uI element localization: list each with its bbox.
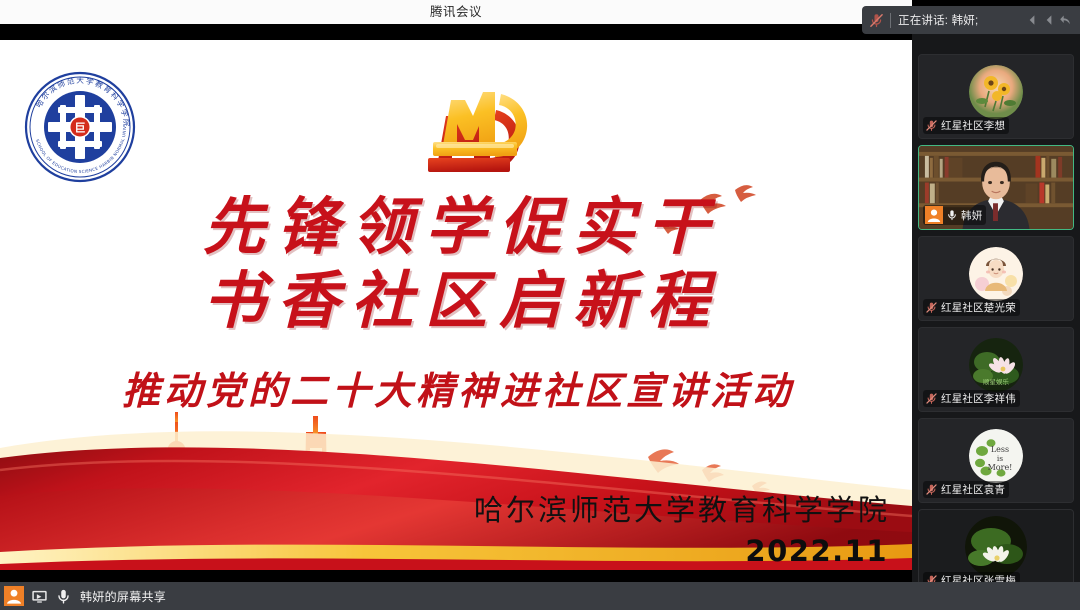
stage-top-letterbox xyxy=(0,28,912,40)
svg-text:is: is xyxy=(997,454,1003,463)
microphone-icon xyxy=(946,208,958,222)
participant-name: 红星社区楚光荣 xyxy=(941,300,1016,315)
participant-tile[interactable]: Less is More! 红星社区袁青 xyxy=(918,418,1074,503)
title-line-1: 先锋领学促实干 xyxy=(0,190,912,264)
microphone-muted-icon xyxy=(925,483,938,496)
speaking-indicator[interactable]: 正在讲话: 韩妍; xyxy=(862,6,1080,34)
white-lotus-avatar xyxy=(965,516,1027,578)
cpc-party-emblem-icon xyxy=(415,84,555,194)
participant-name: 红星社区李想 xyxy=(941,118,1005,133)
organization-name: 哈尔滨师范大学教育科学学院 xyxy=(474,487,890,529)
participant-name: 红星社区李祥伟 xyxy=(941,391,1016,406)
participant-video-panel[interactable]: 红星社区李想 xyxy=(912,34,1080,610)
svg-text:顺星娱乐: 顺星娱乐 xyxy=(983,377,1010,386)
slide-title: 先锋领学促实干 书香社区启新程 xyxy=(0,190,912,338)
host-avatar-icon xyxy=(4,586,24,606)
participant-tile[interactable]: 红星社区楚光荣 xyxy=(918,236,1074,321)
indicator-divider xyxy=(890,13,891,28)
restore-icon[interactable] xyxy=(1059,12,1074,28)
less-is-more-avatar: Less is More! xyxy=(969,429,1023,483)
bottom-bar-spacer xyxy=(166,582,1080,610)
svg-text:More!: More! xyxy=(988,463,1013,472)
screen-share-icon[interactable] xyxy=(31,588,48,605)
tile-info-bar: 红星社区李祥伟 xyxy=(923,390,1020,407)
tile-info-bar: 红星社区李想 xyxy=(923,117,1009,134)
participant-name: 韩妍 xyxy=(961,208,982,223)
participant-tile[interactable]: 顺星娱乐 红星社区李祥伟 xyxy=(918,327,1074,412)
lotus-flower-avatar: 顺星娱乐 xyxy=(969,338,1023,392)
collapse-left-icon[interactable] xyxy=(1025,12,1040,28)
svg-text:Less: Less xyxy=(991,445,1009,454)
collapse-right-icon[interactable] xyxy=(1042,12,1057,28)
red-ribbon-decoration xyxy=(0,320,912,570)
speaking-label: 正在讲话: 韩妍; xyxy=(898,12,1025,28)
app-title: 腾讯会议 xyxy=(0,0,912,24)
host-avatar-icon xyxy=(925,206,943,224)
illustrated-girl-avatar xyxy=(969,247,1023,301)
university-logo: 巨 哈尔滨师范大学教育科学学院 SCHOOL OF EDUCATION SCIE… xyxy=(24,71,136,183)
tile-info-bar: 红星社区袁青 xyxy=(923,481,1009,498)
title-line-2: 书香社区启新程 xyxy=(0,264,912,338)
presentation-slide: 巨 哈尔滨师范大学教育科学学院 SCHOOL OF EDUCATION SCIE… xyxy=(0,40,912,570)
svg-text:巨: 巨 xyxy=(75,122,86,135)
participant-tile[interactable]: 红星社区李想 xyxy=(918,54,1074,139)
share-status-label: 韩妍的屏幕共享 xyxy=(80,588,166,605)
microphone-icon[interactable] xyxy=(55,588,72,605)
screen-share-status-bar[interactable]: 韩妍的屏幕共享 xyxy=(0,582,1080,610)
slide-subtitle: 推动党的二十大精神进社区宣讲活动 xyxy=(0,367,912,415)
title-bar: 腾讯会议 正在讲话: 韩妍; xyxy=(0,0,1080,28)
participant-tile-active[interactable]: 韩妍 xyxy=(918,145,1074,230)
microphone-muted-icon xyxy=(925,301,938,314)
shared-screen-stage[interactable]: 巨 哈尔滨师范大学教育科学学院 SCHOOL OF EDUCATION SCIE… xyxy=(0,28,912,582)
microphone-muted-icon xyxy=(925,119,938,132)
tile-info-bar: 红星社区楚光荣 xyxy=(923,299,1020,316)
microphone-muted-icon xyxy=(925,392,938,405)
tencent-meeting-window: 腾讯会议 正在讲话: 韩妍; xyxy=(0,0,1080,610)
stage-bottom-letterbox xyxy=(0,570,912,582)
tile-info-bar: 韩妍 xyxy=(923,205,986,225)
participant-name: 红星社区袁青 xyxy=(941,482,1005,497)
sunflower-photo-avatar xyxy=(969,65,1023,119)
slide-date: 2022.11 xyxy=(745,534,888,568)
panel-controls xyxy=(1025,12,1080,28)
microphone-muted-icon xyxy=(868,12,885,29)
